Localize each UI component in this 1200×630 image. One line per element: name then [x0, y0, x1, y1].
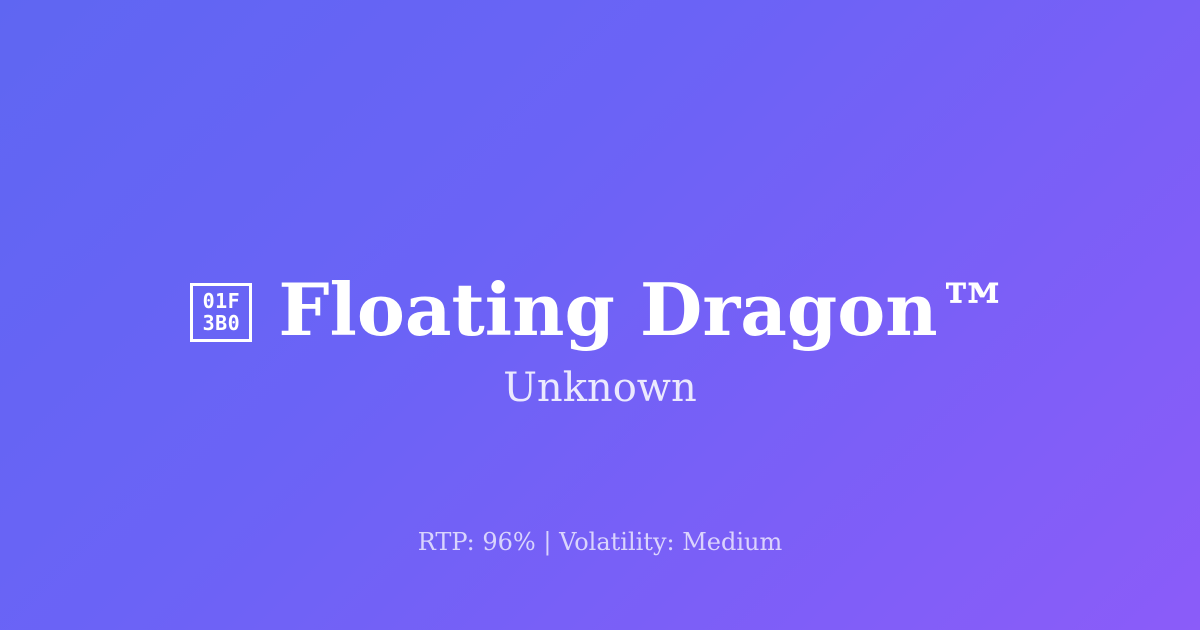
slot-machine-emoji-codepoint-bottom: 3B0 [203, 312, 241, 334]
slot-machine-emoji-icon: 01F 3B0 [190, 283, 252, 342]
page-title: 01F 3B0 Floating Dragon™ [190, 274, 1009, 346]
game-promo-card: 01F 3B0 Floating Dragon™ Unknown RTP: 96… [0, 0, 1200, 630]
slot-machine-emoji-codepoint-top: 01F [203, 290, 241, 312]
game-title-text: Floating Dragon™ [278, 274, 1009, 346]
game-stats-line: RTP: 96% | Volatility: Medium [0, 525, 1200, 559]
provider-label: Unknown [0, 362, 1200, 414]
